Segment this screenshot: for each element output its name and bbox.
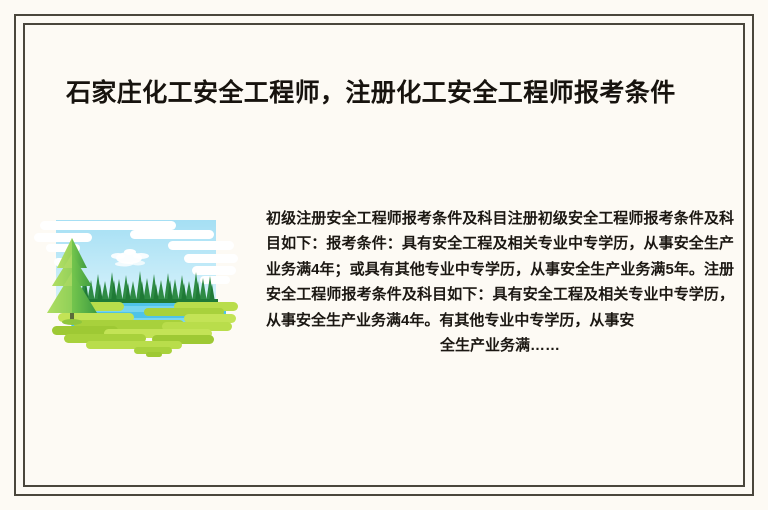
article-body-main: 初级注册安全工程师报考条件及科目注册初级安全工程师报考条件及科目如下：报考条件：… xyxy=(266,210,734,329)
page-title: 石家庄化工安全工程师，注册化工安全工程师报考条件 xyxy=(66,76,706,110)
article-body-tail: 全生产业务满…… xyxy=(266,333,734,358)
article-content: 初级注册安全工程师报考条件及科目注册初级安全工程师报考条件及科目如下：报考条件：… xyxy=(34,206,734,416)
forest-lake-illustration xyxy=(34,214,248,359)
landscape-illustration-svg xyxy=(34,214,248,359)
article-page: 石家庄化工安全工程师，注册化工安全工程师报考条件 xyxy=(0,0,768,510)
tree-base-shadow xyxy=(62,319,82,325)
article-body: 初级注册安全工程师报考条件及科目注册初级安全工程师报考条件及科目如下：报考条件：… xyxy=(266,206,734,358)
